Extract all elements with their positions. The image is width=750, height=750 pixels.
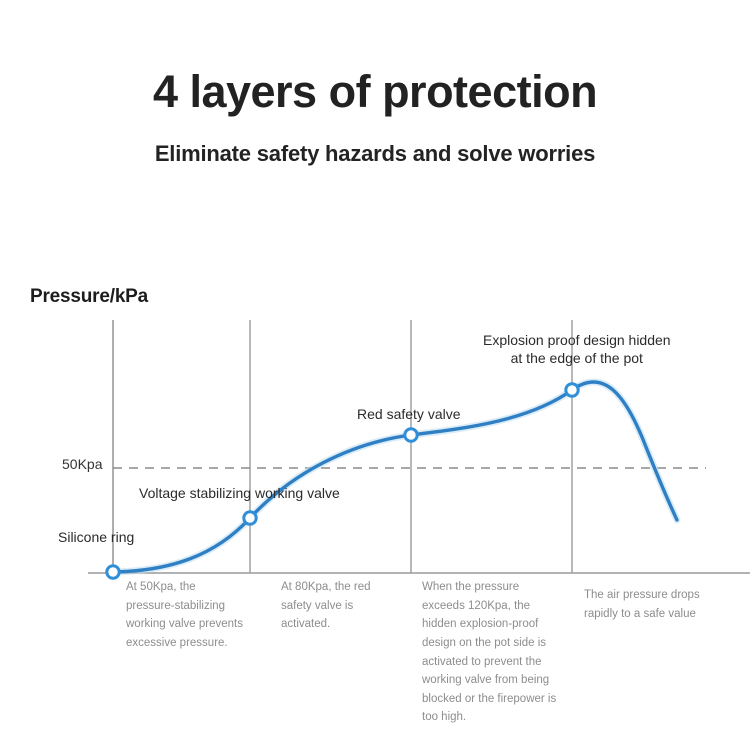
data-point-red-safety-valve[interactable] [405,429,417,441]
annotation-explosion-line-2: at the edge of the pot [483,349,671,367]
data-point-explosion-proof-design[interactable] [566,384,578,396]
data-point-silicone-ring[interactable] [107,566,119,578]
chart-canvas [0,0,750,750]
caption-stage-3: When the pressure exceeds 120Kpa, the hi… [422,578,564,727]
annotation-voltage-stabilizing-valve: Voltage stabilizing working valve [139,485,340,503]
annotation-explosion-line-1: Explosion proof design hidden [483,331,671,349]
data-point-voltage-stabilizing-valve[interactable] [244,512,256,524]
annotation-red-safety-valve: Red safety valve [357,406,461,424]
pressure-chart: Pressure/kPa 50Kpa Silicone ring Volt [0,0,750,750]
infographic-page: 4 layers of protection Eliminate safety … [0,0,750,750]
caption-stage-1: At 50Kpa, the pressure-stabilizing worki… [126,578,246,653]
annotation-explosion-proof-design: Explosion proof design hidden at the edg… [483,331,671,367]
annotation-silicone-ring: Silicone ring [58,529,134,547]
caption-stage-2: At 80Kpa, the red safety valve is activa… [281,578,399,634]
caption-stage-4: The air pressure drops rapidly to a safe… [584,586,736,623]
